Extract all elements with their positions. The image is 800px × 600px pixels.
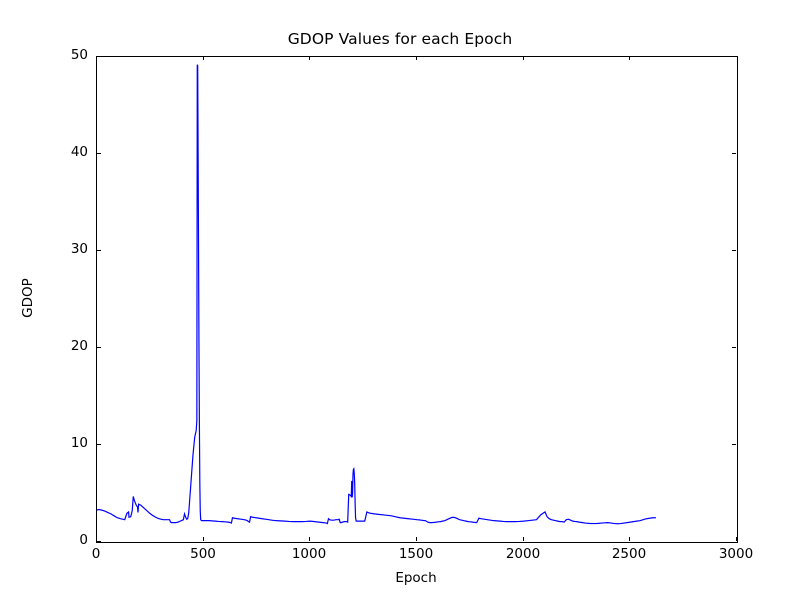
plot-area bbox=[96, 56, 738, 543]
line-chart-svg bbox=[97, 57, 737, 542]
y-tick-mark bbox=[97, 56, 101, 57]
x-tick-mark bbox=[629, 537, 630, 541]
page-title: GDOP Values for each Epoch bbox=[0, 30, 800, 48]
y-tick-label-0: 0 bbox=[28, 534, 88, 548]
y-tick-label-30: 30 bbox=[28, 243, 88, 257]
x-tick-label-3000: 3000 bbox=[696, 548, 776, 562]
y-tick-mark bbox=[732, 153, 736, 154]
y-tick-label-40: 40 bbox=[28, 146, 88, 160]
x-tick-mark bbox=[416, 56, 417, 60]
x-tick-mark bbox=[736, 537, 737, 541]
gdop-data-line bbox=[97, 65, 656, 524]
y-tick-mark bbox=[732, 444, 736, 445]
x-tick-mark bbox=[629, 56, 630, 60]
y-tick-mark bbox=[97, 541, 101, 542]
matplotlib-figure: GDOP Values for each Epoch 0 10 20 30 40… bbox=[0, 0, 800, 600]
x-tick-label-2500: 2500 bbox=[589, 548, 669, 562]
y-tick-mark bbox=[732, 250, 736, 251]
y-tick-mark bbox=[97, 250, 101, 251]
y-tick-mark bbox=[97, 347, 101, 348]
x-tick-label-2000: 2000 bbox=[483, 548, 563, 562]
x-tick-mark bbox=[523, 56, 524, 60]
y-axis-label: GDOP bbox=[20, 278, 36, 318]
x-tick-mark bbox=[523, 537, 524, 541]
x-tick-mark bbox=[416, 537, 417, 541]
x-tick-mark bbox=[309, 537, 310, 541]
x-tick-mark bbox=[96, 537, 97, 541]
x-tick-label-1500: 1500 bbox=[376, 548, 456, 562]
x-tick-label-1000: 1000 bbox=[269, 548, 349, 562]
y-tick-label-50: 50 bbox=[28, 49, 88, 63]
x-tick-mark bbox=[203, 537, 204, 541]
y-tick-mark bbox=[732, 347, 736, 348]
x-tick-mark bbox=[203, 56, 204, 60]
y-tick-mark bbox=[97, 153, 101, 154]
x-axis-label: Epoch bbox=[96, 570, 736, 586]
x-tick-label-0: 0 bbox=[56, 548, 136, 562]
x-tick-mark bbox=[309, 56, 310, 60]
x-tick-label-500: 500 bbox=[163, 548, 243, 562]
y-tick-label-20: 20 bbox=[28, 340, 88, 354]
y-tick-label-10: 10 bbox=[28, 437, 88, 451]
y-tick-mark bbox=[97, 444, 101, 445]
